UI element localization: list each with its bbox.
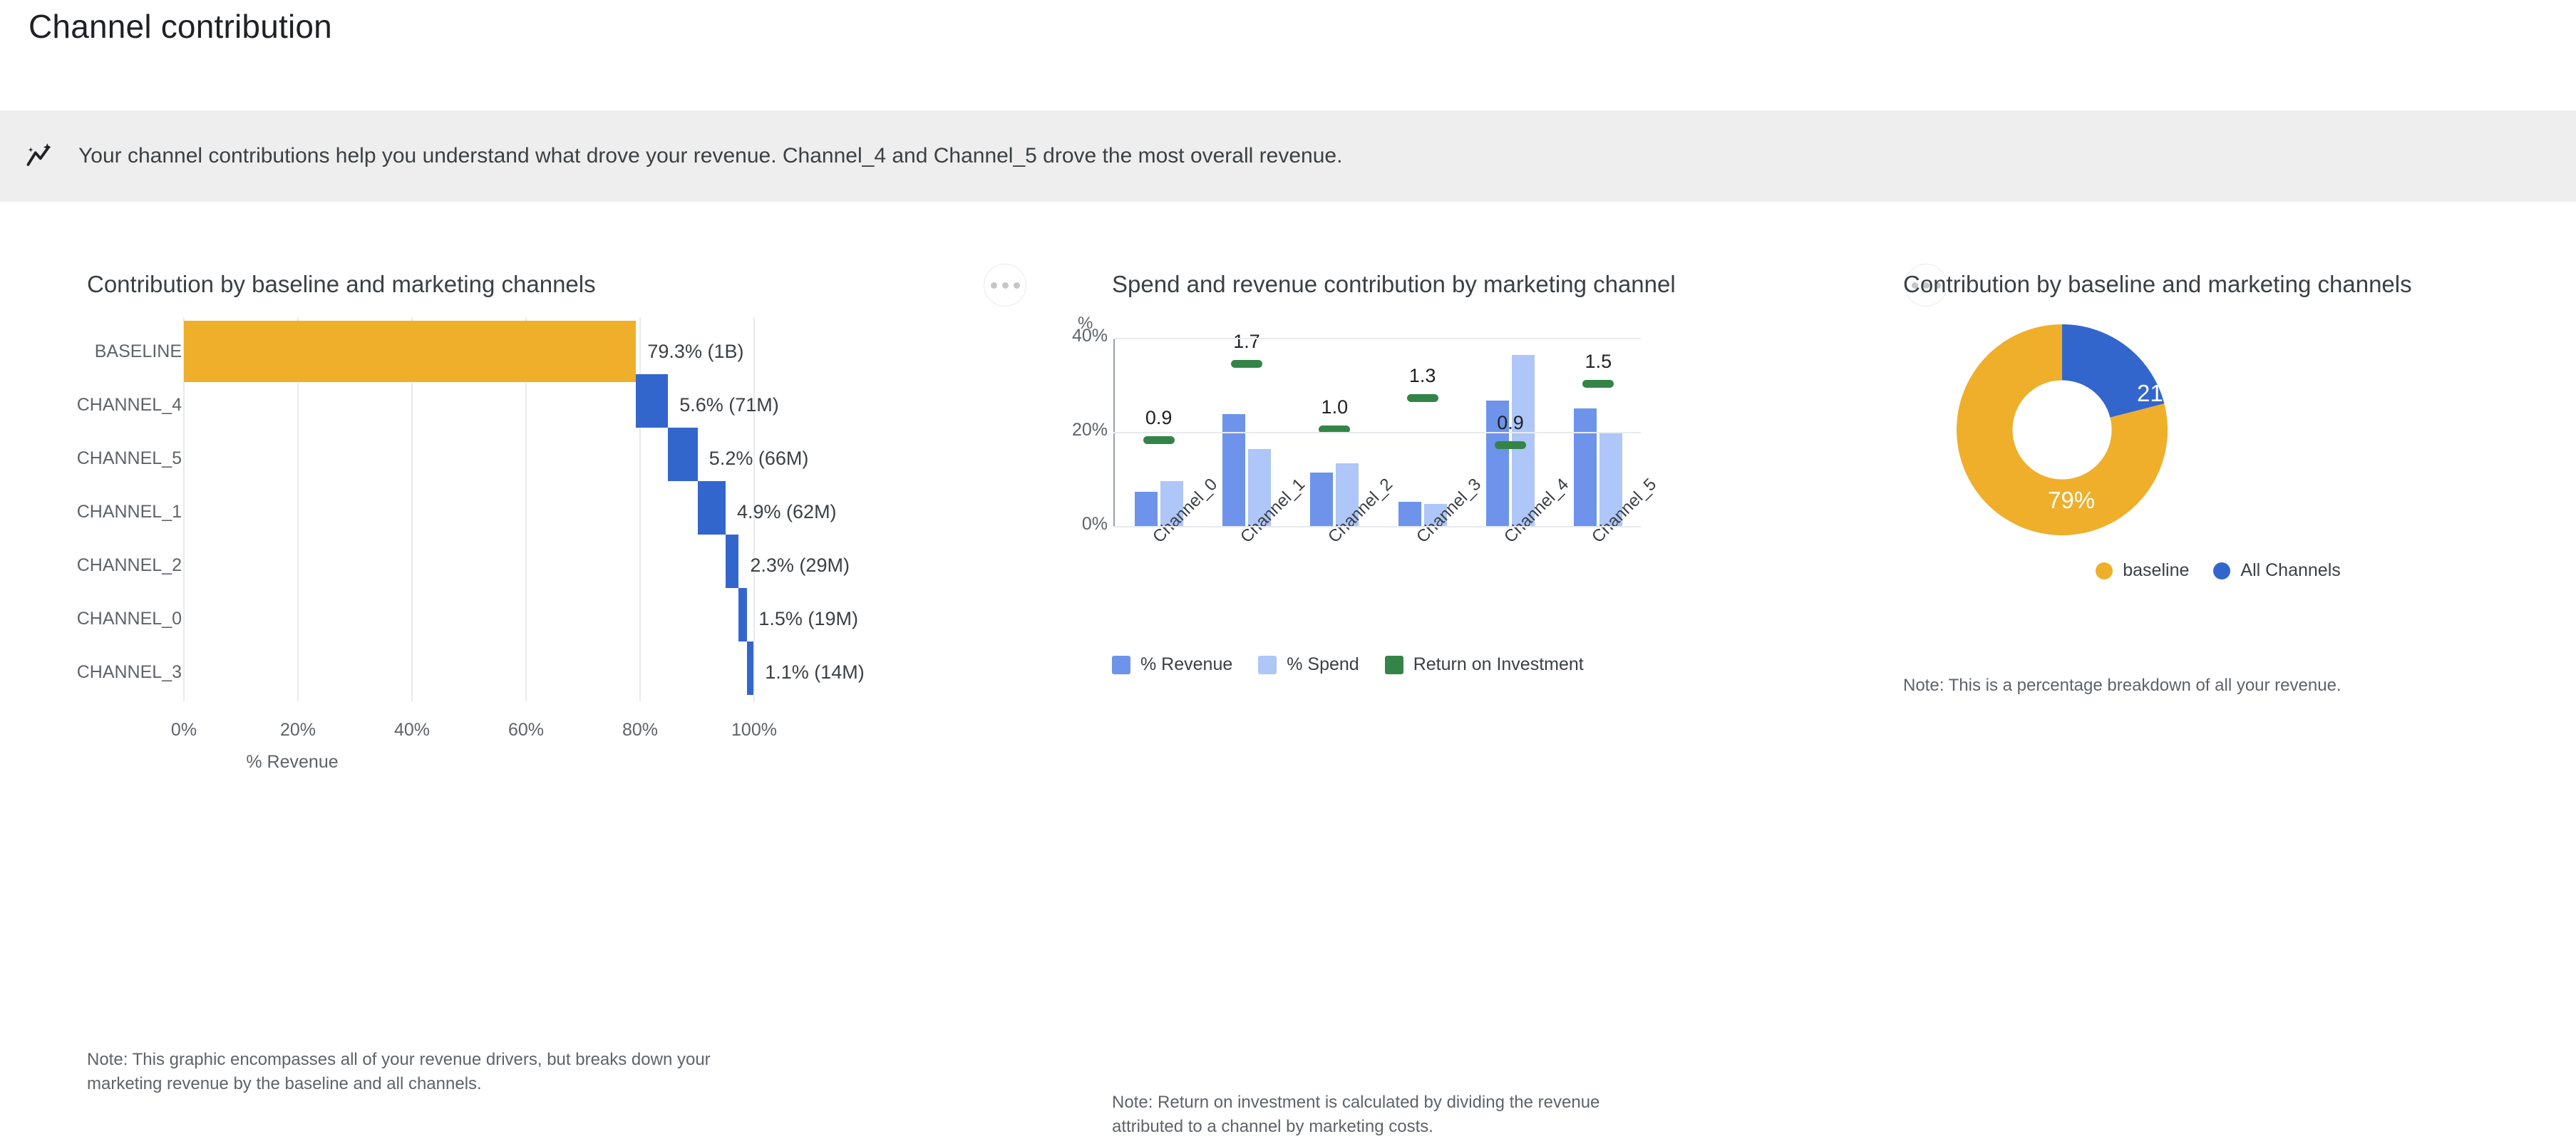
revenue-bar[interactable] xyxy=(1574,408,1597,526)
legend-swatch-icon xyxy=(1385,656,1403,674)
waterfall-bar[interactable] xyxy=(747,641,753,695)
donut-value-label: 79% xyxy=(2048,487,2095,514)
panel-title: Contribution by baseline and marketing c… xyxy=(1903,271,2412,298)
waterfall-category-label: CHANNEL_0 xyxy=(0,588,182,649)
spend-revenue-chart: % 0.91.71.01.30.91.5 % Revenue% SpendRet… xyxy=(1069,314,1860,713)
y-axis-tick: 0% xyxy=(1068,514,1108,535)
chart-legend: baselineAll Channels xyxy=(1860,560,2576,581)
legend-item[interactable]: % Revenue xyxy=(1112,654,1232,675)
revenue-bar[interactable] xyxy=(1135,492,1158,526)
spend-note: Note: Return on investment is calculated… xyxy=(1112,1091,1661,1139)
legend-item[interactable]: All Channels xyxy=(2213,560,2340,581)
roi-marker[interactable] xyxy=(1495,441,1526,449)
waterfall-row: CHANNEL_22.3% (29M) xyxy=(0,535,1069,596)
x-axis-line xyxy=(1113,526,1641,527)
x-axis-tick: 40% xyxy=(369,720,455,741)
waterfall-row: CHANNEL_45.6% (71M) xyxy=(0,374,1069,435)
page-title: Channel contribution xyxy=(29,7,332,46)
donut-chart: baselineAll Channels 21%79% xyxy=(1860,312,2576,612)
roi-value-label: 1.0 xyxy=(1302,396,1366,418)
revenue-bar[interactable] xyxy=(1310,473,1333,526)
roi-marker[interactable] xyxy=(1582,380,1614,388)
panel-header: Contribution by baseline and marketing c… xyxy=(1860,271,2576,314)
panel-header: Contribution by baseline and marketing c… xyxy=(0,271,1069,314)
waterfall-category-label: BASELINE xyxy=(0,321,182,382)
insight-text: Your channel contributions help you unde… xyxy=(78,144,1342,168)
y-axis-tick: 20% xyxy=(1068,420,1108,440)
insights-sparkle-icon xyxy=(19,135,61,177)
panel-header: Spend and revenue contribution by market… xyxy=(1069,271,1860,314)
legend-label: % Spend xyxy=(1287,654,1359,675)
panel-title: Spend and revenue contribution by market… xyxy=(1112,271,1676,298)
legend-item[interactable]: Return on Investment xyxy=(1385,654,1584,675)
waterfall-row: BASELINE79.3% (1B) xyxy=(0,321,1069,382)
waterfall-note: Note: This graphic encompasses all of yo… xyxy=(87,1048,714,1096)
waterfall-value-label: 1.5% (19M) xyxy=(758,588,858,649)
waterfall-value-label: 4.9% (62M) xyxy=(737,481,837,542)
legend-swatch-icon xyxy=(2213,562,2230,579)
kebab-dot-icon xyxy=(991,282,997,289)
legend-label: Return on Investment xyxy=(1413,654,1584,675)
chart-legend: % Revenue% SpendReturn on Investment xyxy=(1112,654,1584,675)
x-axis-label: % Revenue xyxy=(0,752,584,773)
roi-value-label: 1.5 xyxy=(1566,351,1630,373)
waterfall-row: CHANNEL_31.1% (14M) xyxy=(0,641,1069,703)
legend-item[interactable]: baseline xyxy=(2096,560,2189,581)
legend-label: baseline xyxy=(2123,560,2189,581)
roi-value-label: 0.9 xyxy=(1127,407,1191,429)
kebab-dot-icon xyxy=(1002,282,1009,289)
roi-marker[interactable] xyxy=(1407,394,1438,402)
y-axis-tick: 40% xyxy=(1068,326,1108,346)
donut-value-label: 21% xyxy=(2137,380,2184,407)
waterfall-chart: BASELINE79.3% (1B)CHANNEL_45.6% (71M)CHA… xyxy=(0,321,1069,620)
waterfall-bar[interactable] xyxy=(738,588,747,641)
kebab-dot-icon xyxy=(1014,282,1020,289)
legend-swatch-icon xyxy=(2096,562,2113,579)
waterfall-value-label: 5.6% (71M) xyxy=(679,374,779,435)
waterfall-row: CHANNEL_01.5% (19M) xyxy=(0,588,1069,649)
waterfall-bar[interactable] xyxy=(698,481,726,535)
waterfall-row: CHANNEL_14.9% (62M) xyxy=(0,481,1069,542)
legend-swatch-icon xyxy=(1258,656,1277,674)
roi-marker[interactable] xyxy=(1143,436,1175,444)
waterfall-bar[interactable] xyxy=(184,321,636,382)
donut-note: Note: This is a percentage breakdown of … xyxy=(1903,674,2488,698)
waterfall-row: CHANNEL_55.2% (66M) xyxy=(0,428,1069,489)
x-axis: 0%20%40%60%80%100% xyxy=(0,720,1069,748)
more-options-button[interactable] xyxy=(984,264,1026,306)
waterfall-value-label: 2.3% (29M) xyxy=(750,535,850,596)
gridline xyxy=(1113,432,1641,433)
roi-marker[interactable] xyxy=(1231,360,1262,368)
panel-spend-revenue: Spend and revenue contribution by market… xyxy=(1069,271,1860,314)
waterfall-bar[interactable] xyxy=(636,374,668,428)
roi-value-label: 1.3 xyxy=(1391,365,1455,387)
gridline xyxy=(1113,338,1641,339)
x-axis-tick: 60% xyxy=(483,720,569,741)
waterfall-category-label: CHANNEL_4 xyxy=(0,374,182,435)
waterfall-category-label: CHANNEL_3 xyxy=(0,641,182,703)
panel-title: Contribution by baseline and marketing c… xyxy=(87,271,596,298)
waterfall-category-label: CHANNEL_2 xyxy=(0,535,182,596)
revenue-bar[interactable] xyxy=(1222,414,1245,526)
waterfall-bar[interactable] xyxy=(726,535,738,588)
insight-banner: Your channel contributions help you unde… xyxy=(0,110,2576,202)
x-axis-tick: 0% xyxy=(141,720,227,741)
x-axis-tick: 80% xyxy=(597,720,683,741)
revenue-bar[interactable] xyxy=(1398,502,1421,526)
waterfall-bar[interactable] xyxy=(668,428,698,481)
legend-label: % Revenue xyxy=(1140,654,1232,675)
waterfall-category-label: CHANNEL_5 xyxy=(0,428,182,489)
roi-value-label: 1.7 xyxy=(1215,331,1279,353)
roi-value-label: 0.9 xyxy=(1478,412,1542,434)
waterfall-category-label: CHANNEL_1 xyxy=(0,481,182,542)
waterfall-value-label: 79.3% (1B) xyxy=(647,321,743,382)
waterfall-value-label: 5.2% (66M) xyxy=(709,428,809,489)
x-axis-tick: 100% xyxy=(711,720,797,741)
waterfall-value-label: 1.1% (14M) xyxy=(765,641,865,703)
panel-contribution-waterfall: Contribution by baseline and marketing c… xyxy=(0,271,1069,314)
legend-swatch-icon xyxy=(1112,656,1130,674)
legend-item[interactable]: % Spend xyxy=(1258,654,1359,675)
legend-label: All Channels xyxy=(2240,560,2340,581)
x-axis-tick: 20% xyxy=(255,720,341,741)
panel-donut: Contribution by baseline and marketing c… xyxy=(1860,271,2576,314)
